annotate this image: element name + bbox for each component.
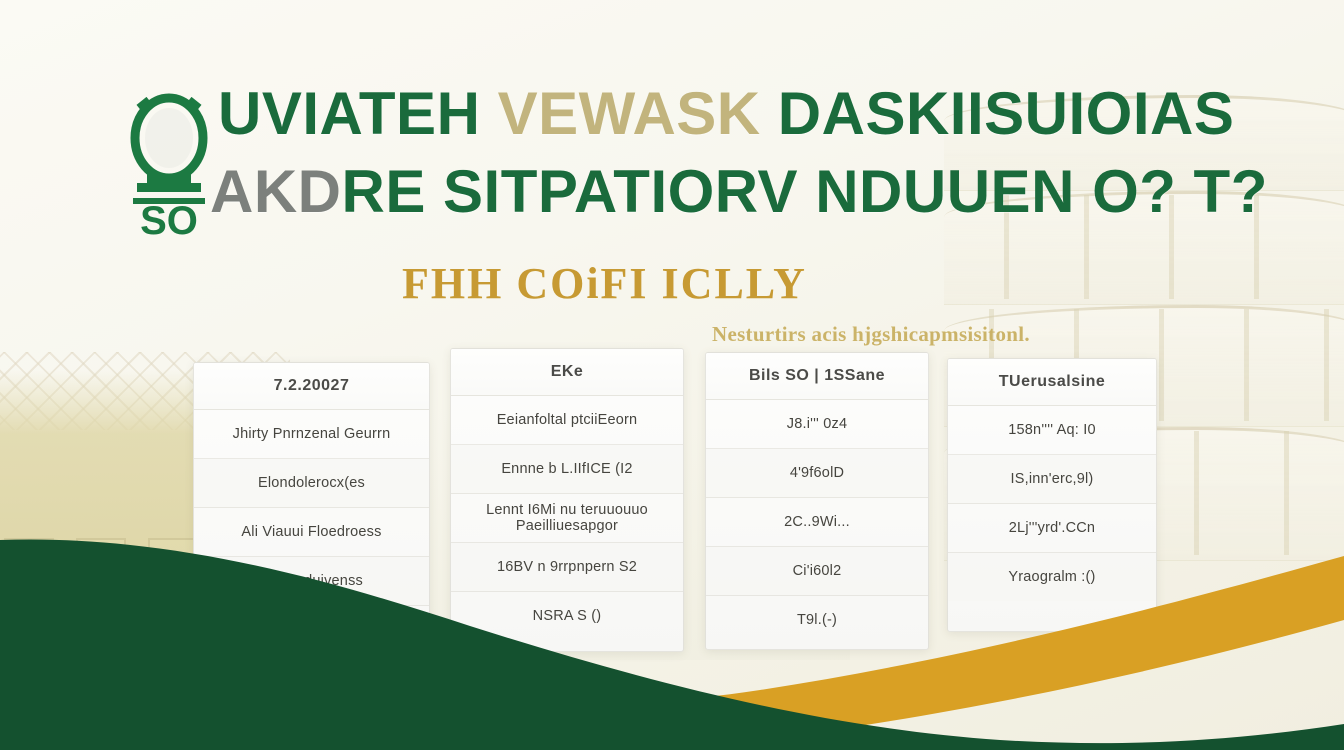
table-row[interactable]: Eeianfoltal ptciiEeorn [451, 396, 683, 445]
table-row[interactable]: Ennne b L.IIfICE (I2 [451, 445, 683, 494]
card-3-header: Bils SO | 1SSane [706, 353, 928, 400]
slide-canvas: SO UVIATEH VEWASK DASKIISUIOIAS AKDRE SI… [0, 0, 1344, 750]
card-2-header: EKe [451, 349, 683, 396]
table-row[interactable]: Jhirty Pnrnzenal Geurrn [194, 410, 429, 459]
card-1-header: 7.2.20027 [194, 363, 429, 410]
table-row[interactable]: J8.i''' 0z4 [706, 400, 928, 449]
table-row[interactable]: 158n'''' Aq: I0 [948, 406, 1156, 455]
bottom-wave-decoration [0, 490, 1344, 750]
card-4-header: TUerusalsine [948, 359, 1156, 406]
